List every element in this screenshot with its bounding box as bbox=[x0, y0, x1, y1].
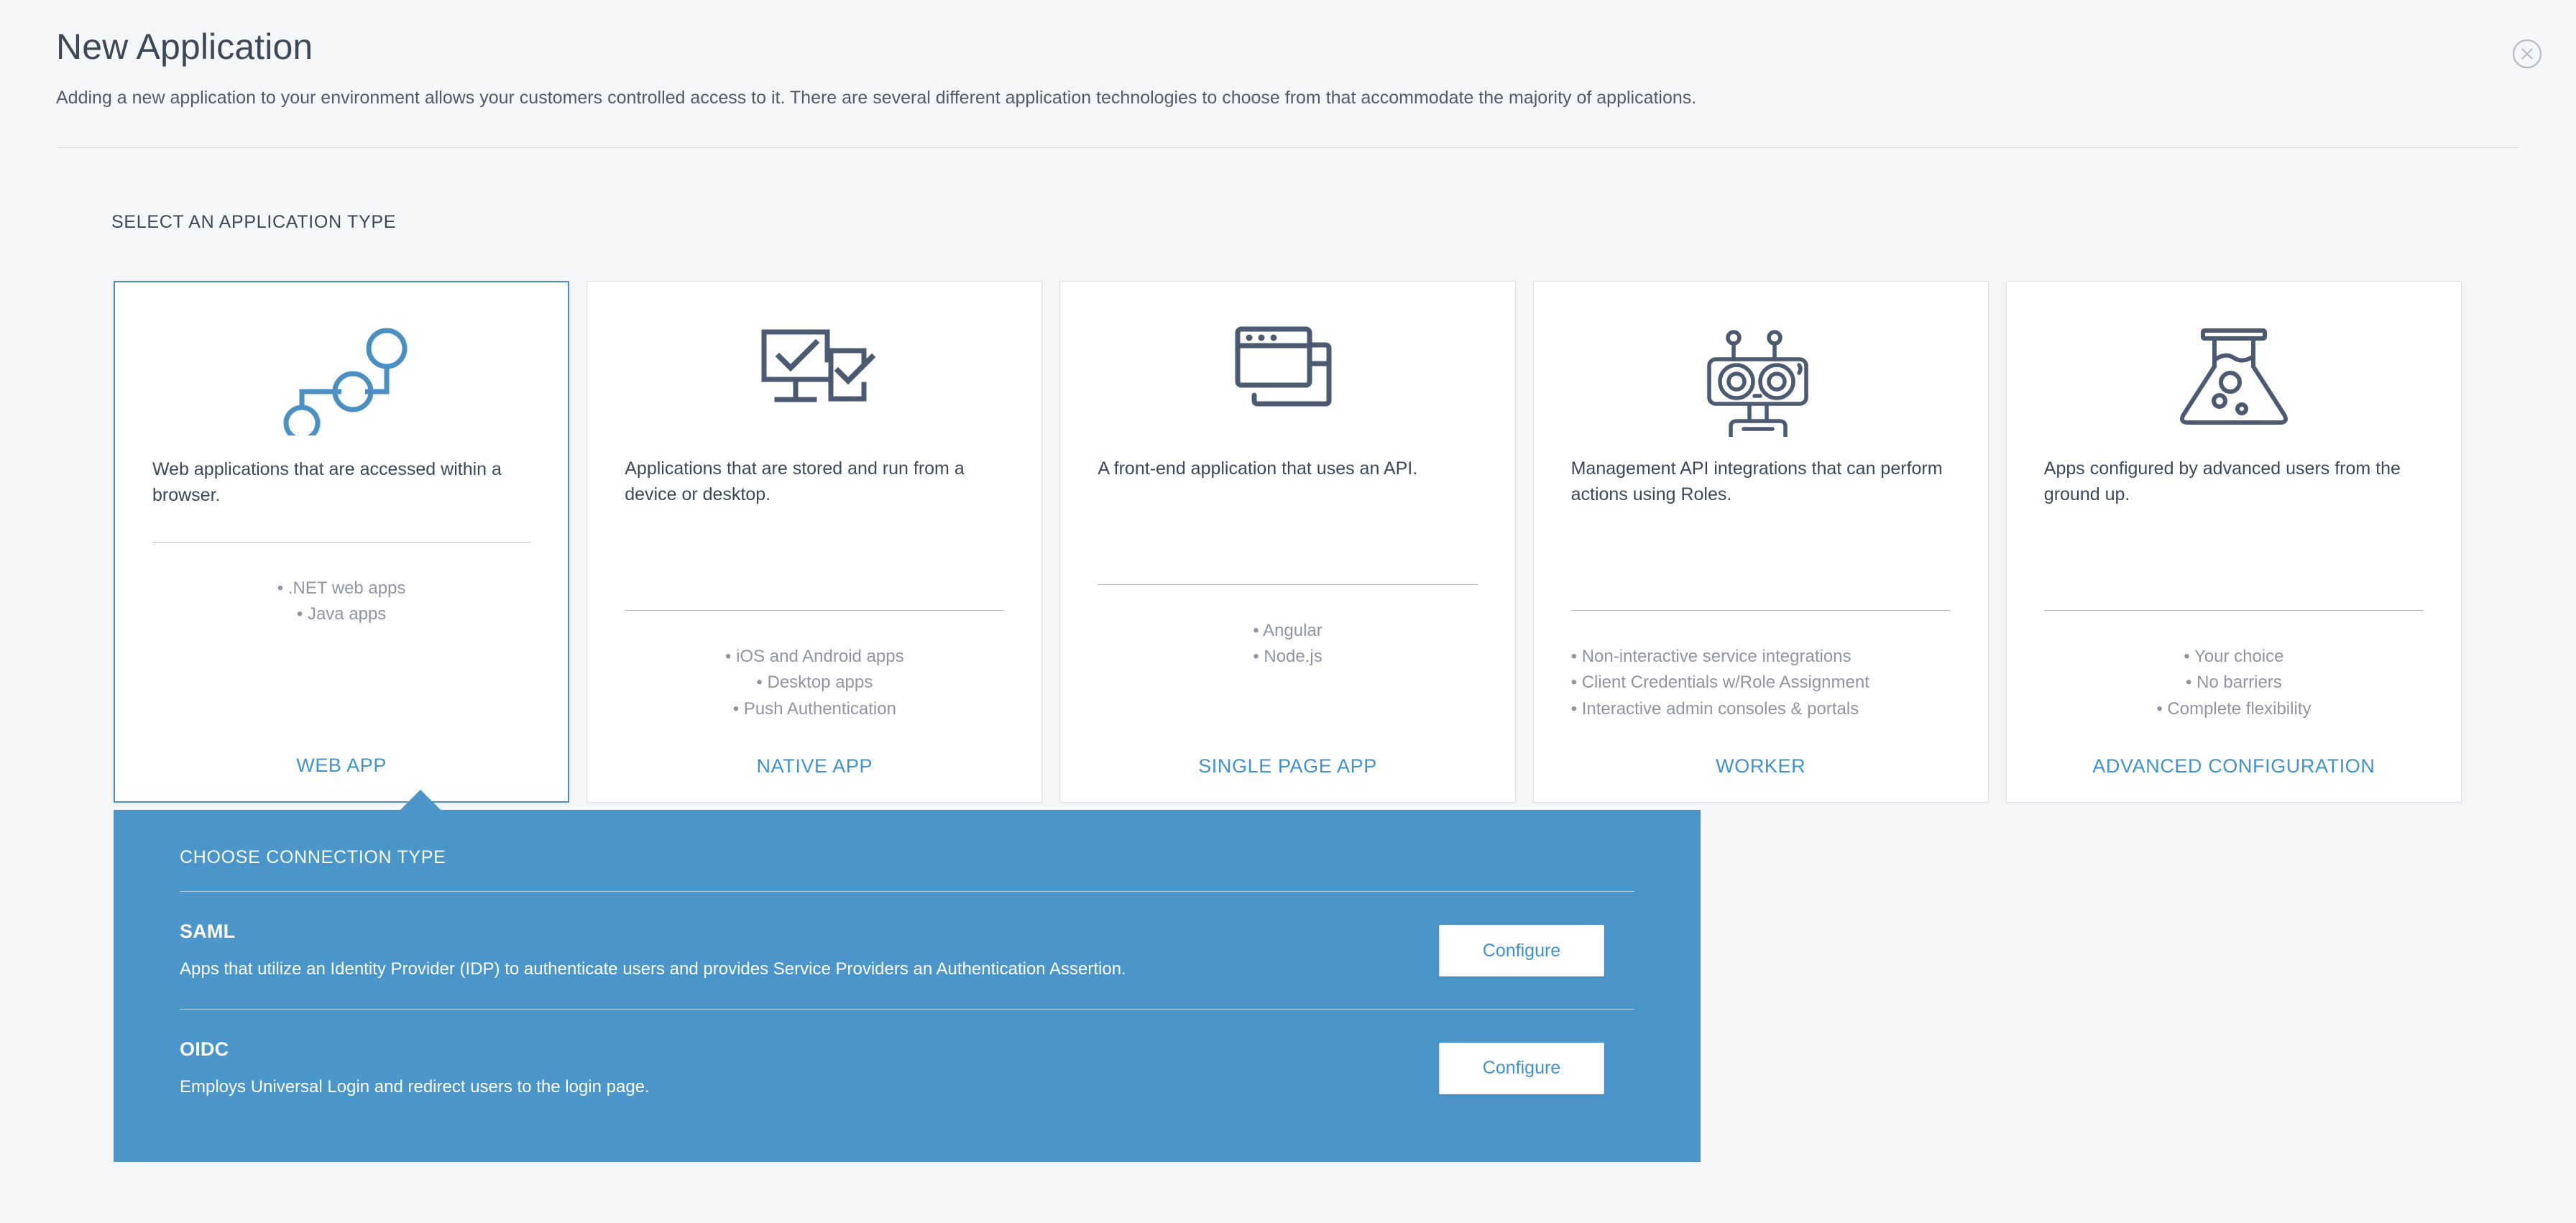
desktop-and-mobile-check-icon bbox=[587, 282, 1041, 456]
card-cta-label[interactable]: SINGLE PAGE APP bbox=[1060, 755, 1514, 802]
card-description: Management API integrations that can per… bbox=[1534, 456, 1988, 541]
card-divider bbox=[1571, 610, 1951, 611]
flask-icon bbox=[2007, 282, 2461, 456]
network-nodes-icon bbox=[115, 282, 568, 457]
configure-button-oidc[interactable]: Configure bbox=[1439, 1043, 1604, 1094]
connection-row-description: Apps that utilize an Identity Provider (… bbox=[180, 957, 1410, 982]
connection-row-text: OIDC Employs Universal Login and redirec… bbox=[180, 1038, 1439, 1099]
bullet-item: • No barriers bbox=[2044, 670, 2424, 696]
card-bullets: • Your choice • No barriers • Complete f… bbox=[2007, 644, 2461, 742]
connection-row-name: SAML bbox=[180, 920, 1410, 943]
bullet-item: • Complete flexibility bbox=[2044, 696, 2424, 722]
bullet-item: • Java apps bbox=[152, 601, 530, 627]
connection-row-saml[interactable]: SAML Apps that utilize an Identity Provi… bbox=[180, 892, 1634, 1009]
robot-icon bbox=[1534, 282, 1988, 456]
card-bullets: • iOS and Android apps • Desktop apps • … bbox=[587, 644, 1041, 742]
close-circle-icon bbox=[2511, 37, 2544, 70]
app-type-card-advanced-configuration[interactable]: Apps configured by advanced users from t… bbox=[2006, 281, 2462, 803]
app-type-card-single-page-app[interactable]: A front-end application that uses an API… bbox=[1059, 281, 1515, 803]
bullet-item: • Push Authentication bbox=[625, 696, 1004, 722]
bullet-item: • Non-interactive service integrations bbox=[1571, 644, 1951, 670]
connection-type-panel: CHOOSE CONNECTION TYPE SAML Apps that ut… bbox=[114, 810, 1701, 1162]
application-type-cards: Web applications that are accessed withi… bbox=[114, 281, 2462, 803]
card-cta-label[interactable]: WORKER bbox=[1534, 755, 1988, 802]
new-application-dialog: New Application Adding a new application… bbox=[0, 0, 2576, 1223]
card-description: A front-end application that uses an API… bbox=[1060, 456, 1514, 541]
stacked-browser-windows-icon bbox=[1060, 282, 1514, 456]
card-description: Web applications that are accessed withi… bbox=[115, 457, 568, 542]
card-divider bbox=[625, 610, 1004, 611]
close-button[interactable] bbox=[2511, 37, 2544, 70]
bullet-item: • iOS and Android apps bbox=[625, 644, 1004, 670]
bullet-item: • Client Credentials w/Role Assignment bbox=[1571, 670, 1951, 696]
bullet-item: • Your choice bbox=[2044, 644, 2424, 670]
connection-row-oidc[interactable]: OIDC Employs Universal Login and redirec… bbox=[180, 1010, 1634, 1127]
bullet-item: • .NET web apps bbox=[152, 576, 530, 601]
connection-row-name: OIDC bbox=[180, 1038, 1410, 1061]
card-bullets: • .NET web apps • Java apps bbox=[115, 576, 568, 742]
bullet-item: • Angular bbox=[1098, 618, 1477, 644]
card-divider bbox=[2044, 610, 2424, 611]
bullet-item: • Desktop apps bbox=[625, 670, 1004, 696]
header-divider bbox=[56, 147, 2520, 148]
connection-row-text: SAML Apps that utilize an Identity Provi… bbox=[180, 920, 1439, 982]
app-type-card-native-app[interactable]: Applications that are stored and run fro… bbox=[586, 281, 1042, 803]
card-divider bbox=[1098, 584, 1477, 585]
bullet-item: • Interactive admin consoles & portals bbox=[1571, 696, 1951, 722]
app-type-card-web-app[interactable]: Web applications that are accessed withi… bbox=[114, 281, 569, 803]
panel-pointer-arrow bbox=[400, 790, 441, 811]
card-cta-label[interactable]: WEB APP bbox=[115, 754, 568, 801]
card-cta-label[interactable]: ADVANCED CONFIGURATION bbox=[2007, 755, 2461, 802]
app-type-card-worker[interactable]: Management API integrations that can per… bbox=[1533, 281, 1989, 803]
connection-panel-title: CHOOSE CONNECTION TYPE bbox=[180, 847, 1665, 868]
configure-button-saml[interactable]: Configure bbox=[1439, 925, 1604, 977]
page-subtitle: Adding a new application to your environ… bbox=[56, 86, 2520, 111]
page-title: New Application bbox=[56, 27, 2520, 67]
connection-row-description: Employs Universal Login and redirect use… bbox=[180, 1075, 1410, 1099]
card-divider bbox=[152, 542, 530, 543]
card-description: Applications that are stored and run fro… bbox=[587, 456, 1041, 541]
section-label: SELECT AN APPLICATION TYPE bbox=[111, 212, 396, 233]
card-cta-label[interactable]: NATIVE APP bbox=[587, 755, 1041, 802]
bullet-item: • Node.js bbox=[1098, 644, 1477, 670]
card-bullets: • Angular • Node.js bbox=[1060, 618, 1514, 742]
card-bullets: • Non-interactive service integrations •… bbox=[1534, 644, 1988, 742]
card-description: Apps configured by advanced users from t… bbox=[2007, 456, 2461, 541]
dialog-header: New Application Adding a new application… bbox=[56, 27, 2520, 111]
